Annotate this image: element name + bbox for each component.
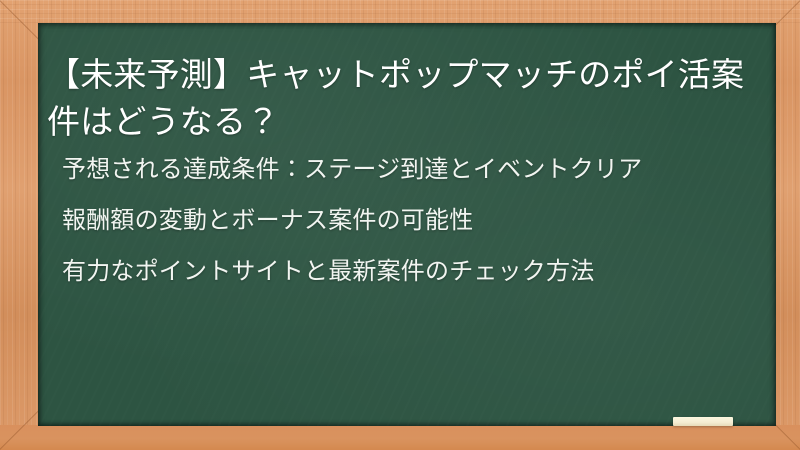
chalk-stick-icon xyxy=(673,417,733,426)
headline-list: 予想される達成条件：ステージ到達とイベントクリア 報酬額の変動とボーナス案件の可… xyxy=(62,149,756,292)
chalkboard-content: 【未来予測】キャットポップマッチのポイ活案件はどうなる？ 予想される達成条件：ス… xyxy=(38,23,776,426)
frame-wood-grain-bottom xyxy=(0,425,800,450)
page-title: 【未来予測】キャットポップマッチのポイ活案件はどうなる？ xyxy=(47,51,763,145)
frame-wood-grain-top xyxy=(0,0,800,24)
list-item: 報酬額の変動とボーナス案件の可能性 xyxy=(62,200,756,241)
chalkboard-eyecatch: 【未来予測】キャットポップマッチのポイ活案件はどうなる？ 予想される達成条件：ス… xyxy=(0,0,800,450)
list-item: 有力なポイントサイトと最新案件のチェック方法 xyxy=(62,251,756,292)
chalkboard-surface: 【未来予測】キャットポップマッチのポイ活案件はどうなる？ 予想される達成条件：ス… xyxy=(38,23,776,426)
list-item: 予想される達成条件：ステージ到達とイベントクリア xyxy=(62,149,756,190)
